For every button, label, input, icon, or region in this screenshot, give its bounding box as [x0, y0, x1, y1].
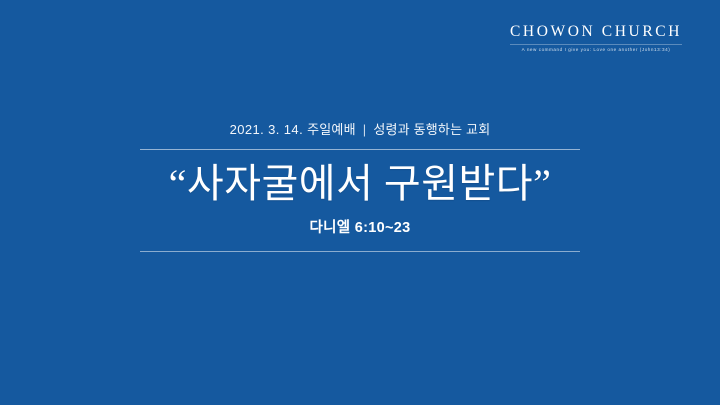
service-date: 2021. 3. 14.: [230, 122, 303, 137]
church-motto: 성령과 동행하는 교회: [373, 122, 490, 137]
sermon-title: “사자굴에서 구원받다”: [0, 160, 720, 207]
logo-divider: [510, 44, 682, 45]
sermon-info-block: 2021. 3. 14.주일예배|성령과 동행하는 교회 “사자굴에서 구원받다…: [0, 122, 720, 252]
service-separator: |: [356, 122, 374, 138]
sermon-title-slide: CHOWON CHURCH A new command I give you: …: [0, 0, 720, 405]
title-divider-top: [140, 149, 580, 150]
scripture-reference: 다니엘 6:10~23: [0, 216, 720, 237]
service-line: 2021. 3. 14.주일예배|성령과 동행하는 교회: [0, 122, 720, 138]
church-tagline: A new command I give you: Love one anoth…: [510, 47, 682, 52]
church-logo: CHOWON CHURCH A new command I give you: …: [510, 24, 682, 52]
church-wordmark: CHOWON CHURCH: [510, 24, 682, 40]
service-name: 주일예배: [307, 122, 356, 137]
title-divider-bottom: [140, 251, 580, 252]
